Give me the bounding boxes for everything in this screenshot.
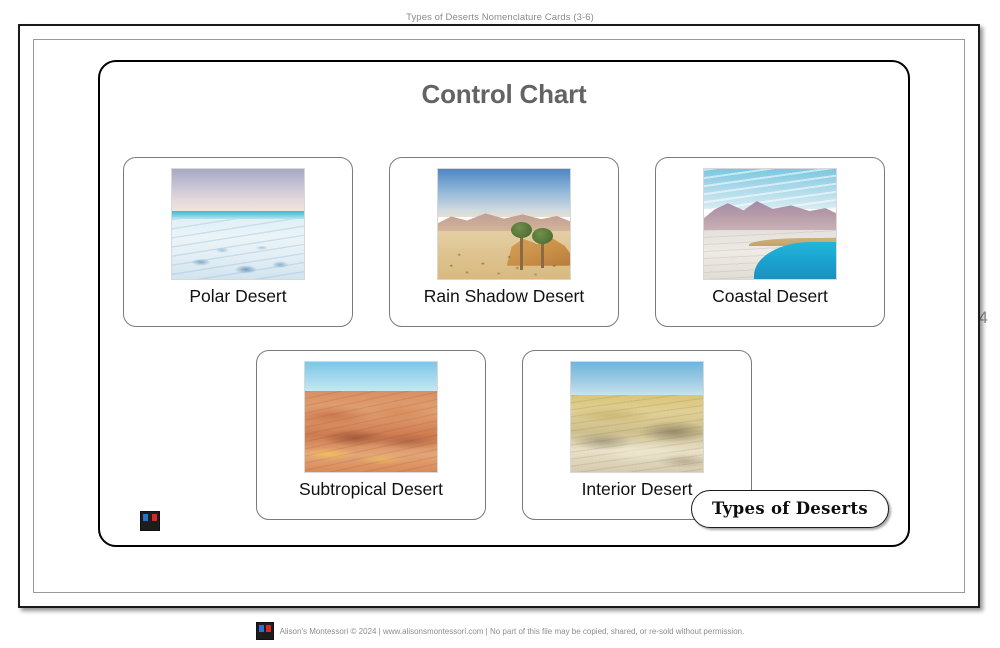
types-of-deserts-badge[interactable]: Types of Deserts [691, 490, 889, 528]
document-footer: Alison's Montessori © 2024 | www.alisons… [0, 622, 1000, 640]
interior-dunes-layer [571, 395, 703, 472]
joshua-tree-icon [541, 239, 544, 268]
card-row-top: Polar Desert Rain Shadow Desert [100, 157, 908, 327]
control-chart-panel: Control Chart Polar Desert [98, 60, 910, 547]
nomenclature-card-polar-desert[interactable]: Polar Desert [123, 157, 353, 327]
alisons-montessori-logo-icon [256, 622, 274, 640]
rain-shadow-desert-illustration [437, 168, 571, 280]
footer-copyright-text: Alison's Montessori © 2024 | www.alisons… [280, 627, 745, 636]
worksheet-page: Control Chart Polar Desert [18, 24, 980, 608]
interior-desert-illustration [570, 361, 704, 473]
page-title: Control Chart [100, 79, 908, 110]
document-header-title: Types of Deserts Nomenclature Cards (3-6… [0, 12, 1000, 23]
joshua-tree-icon [520, 233, 523, 270]
nomenclature-card-subtropical-desert[interactable]: Subtropical Desert [256, 350, 486, 520]
alisons-montessori-logo-icon [140, 511, 160, 531]
coastal-desert-illustration [703, 168, 837, 280]
polar-sky-layer [172, 169, 304, 213]
card-label: Polar Desert [189, 287, 286, 306]
coastal-sky-layer [704, 169, 836, 209]
card-label: Rain Shadow Desert [424, 287, 585, 306]
card-label: Subtropical Desert [299, 480, 443, 499]
card-label: Coastal Desert [712, 287, 828, 306]
subtropical-dunes-layer [305, 391, 437, 472]
subtropical-desert-illustration [304, 361, 438, 473]
polar-desert-illustration [171, 168, 305, 280]
polar-ice-plain-layer [172, 219, 304, 280]
rain-shadow-scrub-layer [438, 169, 570, 279]
card-label: Interior Desert [582, 480, 693, 499]
nomenclature-card-rain-shadow-desert[interactable]: Rain Shadow Desert [389, 157, 619, 327]
nomenclature-card-coastal-desert[interactable]: Coastal Desert [655, 157, 885, 327]
interior-sky-layer [571, 362, 703, 398]
